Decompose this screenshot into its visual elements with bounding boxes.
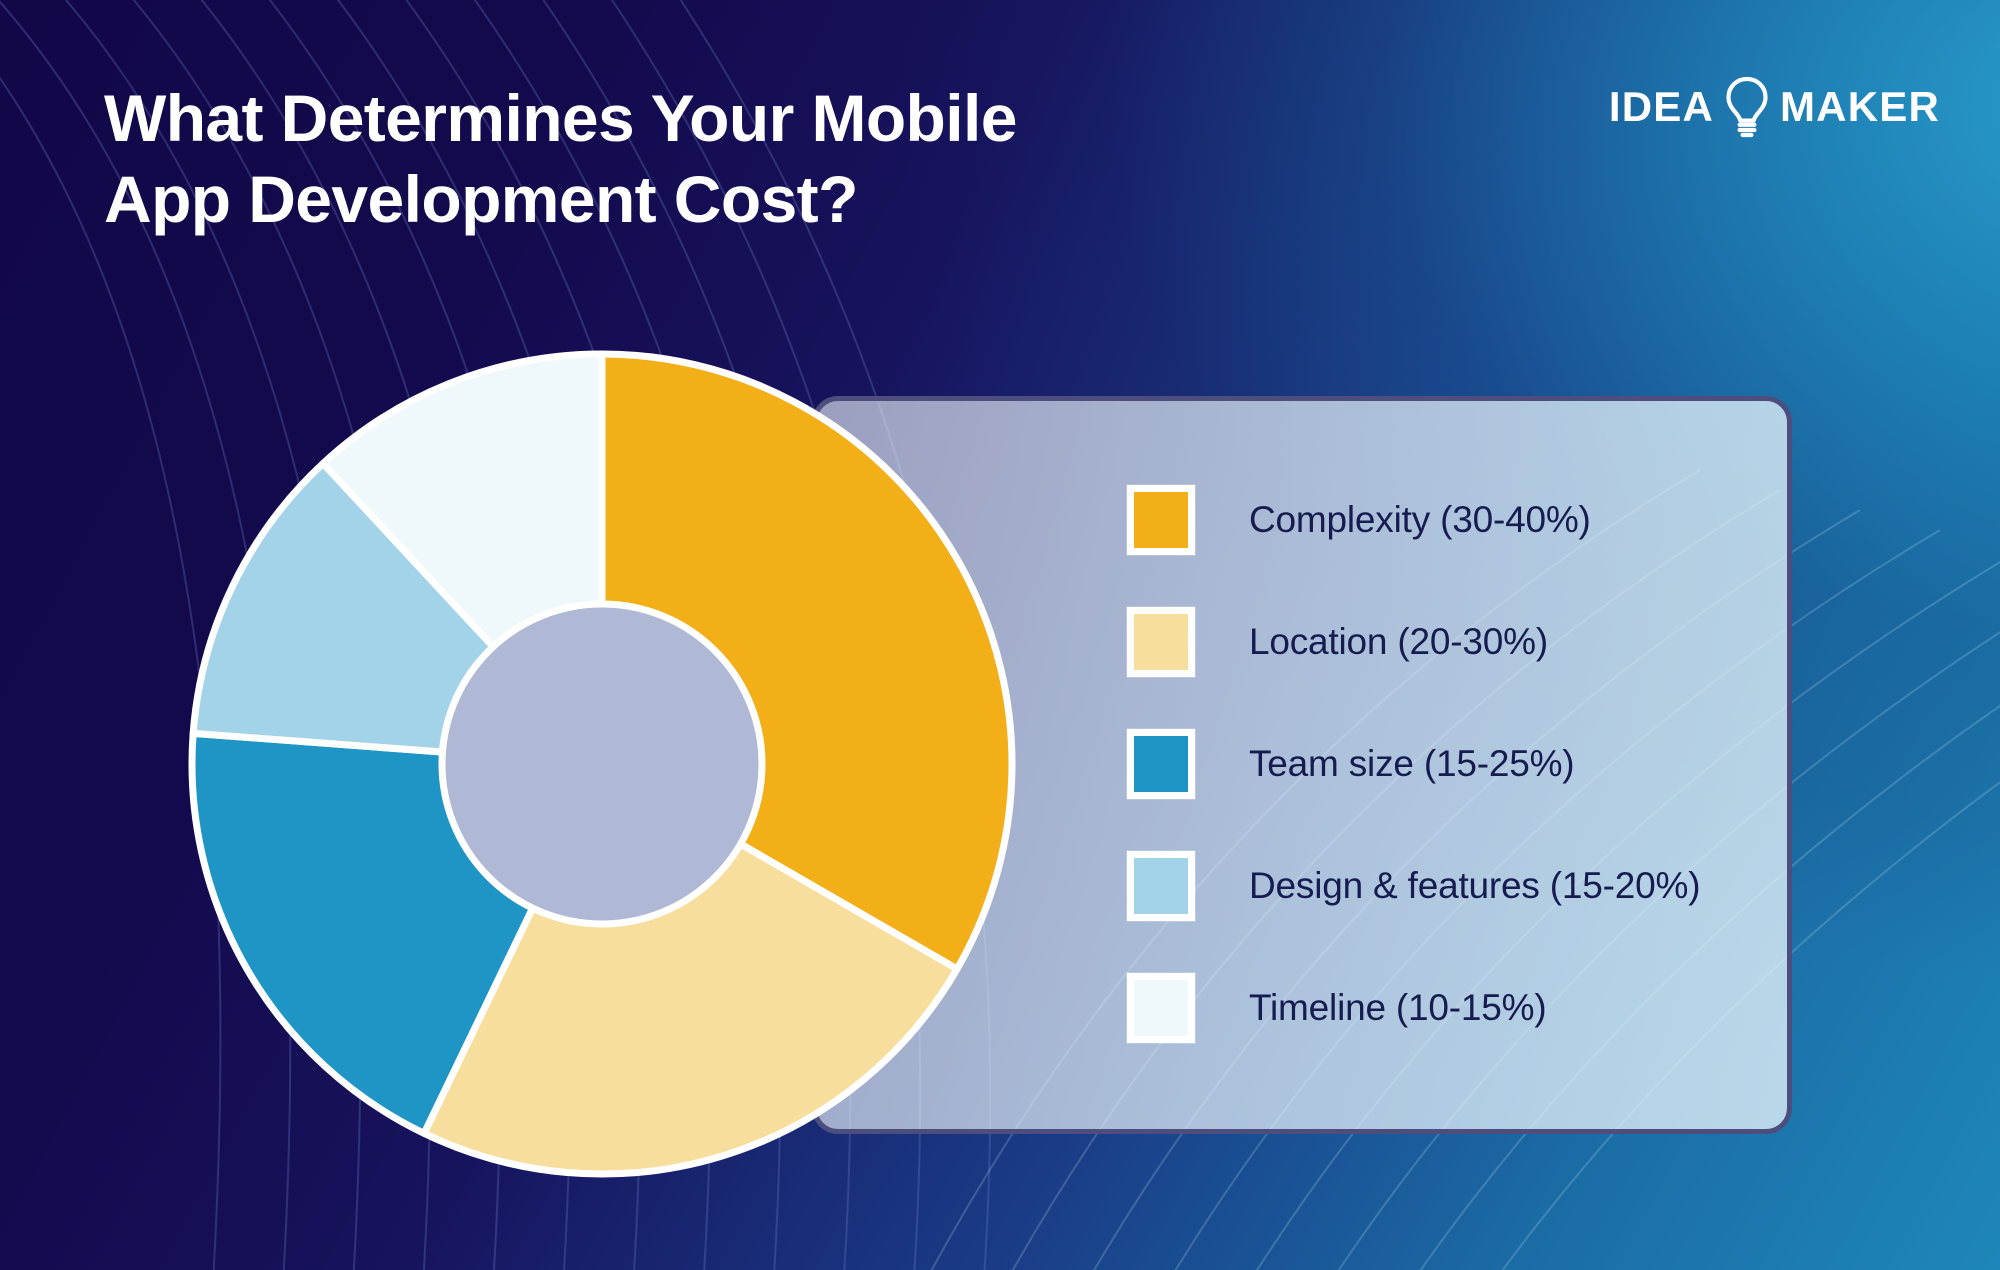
- legend-item[interactable]: Team size (15-25%): [1127, 729, 1700, 799]
- legend-item[interactable]: Location (20-30%): [1127, 607, 1700, 677]
- legend-item-label: Team size (15-25%): [1249, 743, 1574, 785]
- logo-word-idea: IDEA: [1609, 86, 1714, 128]
- legend-list: Complexity (30-40%)Location (20-30%)Team…: [1127, 485, 1700, 1043]
- donut-chart-svg: [186, 348, 1018, 1180]
- legend-item-label: Complexity (30-40%): [1249, 499, 1591, 541]
- legend-item[interactable]: Complexity (30-40%): [1127, 485, 1700, 555]
- donut-chart: [186, 348, 1018, 1180]
- lightbulb-icon: [1724, 76, 1770, 138]
- legend-item-label: Design & features (15-20%): [1249, 865, 1700, 907]
- legend-item-label: Location (20-30%): [1249, 621, 1548, 663]
- page-title-line-1: What Determines Your Mobile: [104, 78, 1444, 159]
- legend-swatch: [1127, 485, 1195, 555]
- brand-logo[interactable]: IDEA MAKER: [1609, 76, 1940, 138]
- page-title-line-2: App Development Cost?: [104, 159, 1444, 240]
- legend-swatch: [1127, 729, 1195, 799]
- page-title: What Determines Your Mobile App Developm…: [104, 78, 1444, 239]
- infographic-canvas: What Determines Your Mobile App Developm…: [0, 0, 2000, 1270]
- legend-item[interactable]: Timeline (10-15%): [1127, 973, 1700, 1043]
- legend-item-label: Timeline (10-15%): [1249, 987, 1547, 1029]
- logo-word-maker: MAKER: [1780, 86, 1940, 128]
- legend-item[interactable]: Design & features (15-20%): [1127, 851, 1700, 921]
- legend-swatch: [1127, 851, 1195, 921]
- legend-swatch: [1127, 973, 1195, 1043]
- donut-center-circle: [442, 604, 762, 924]
- legend-swatch: [1127, 607, 1195, 677]
